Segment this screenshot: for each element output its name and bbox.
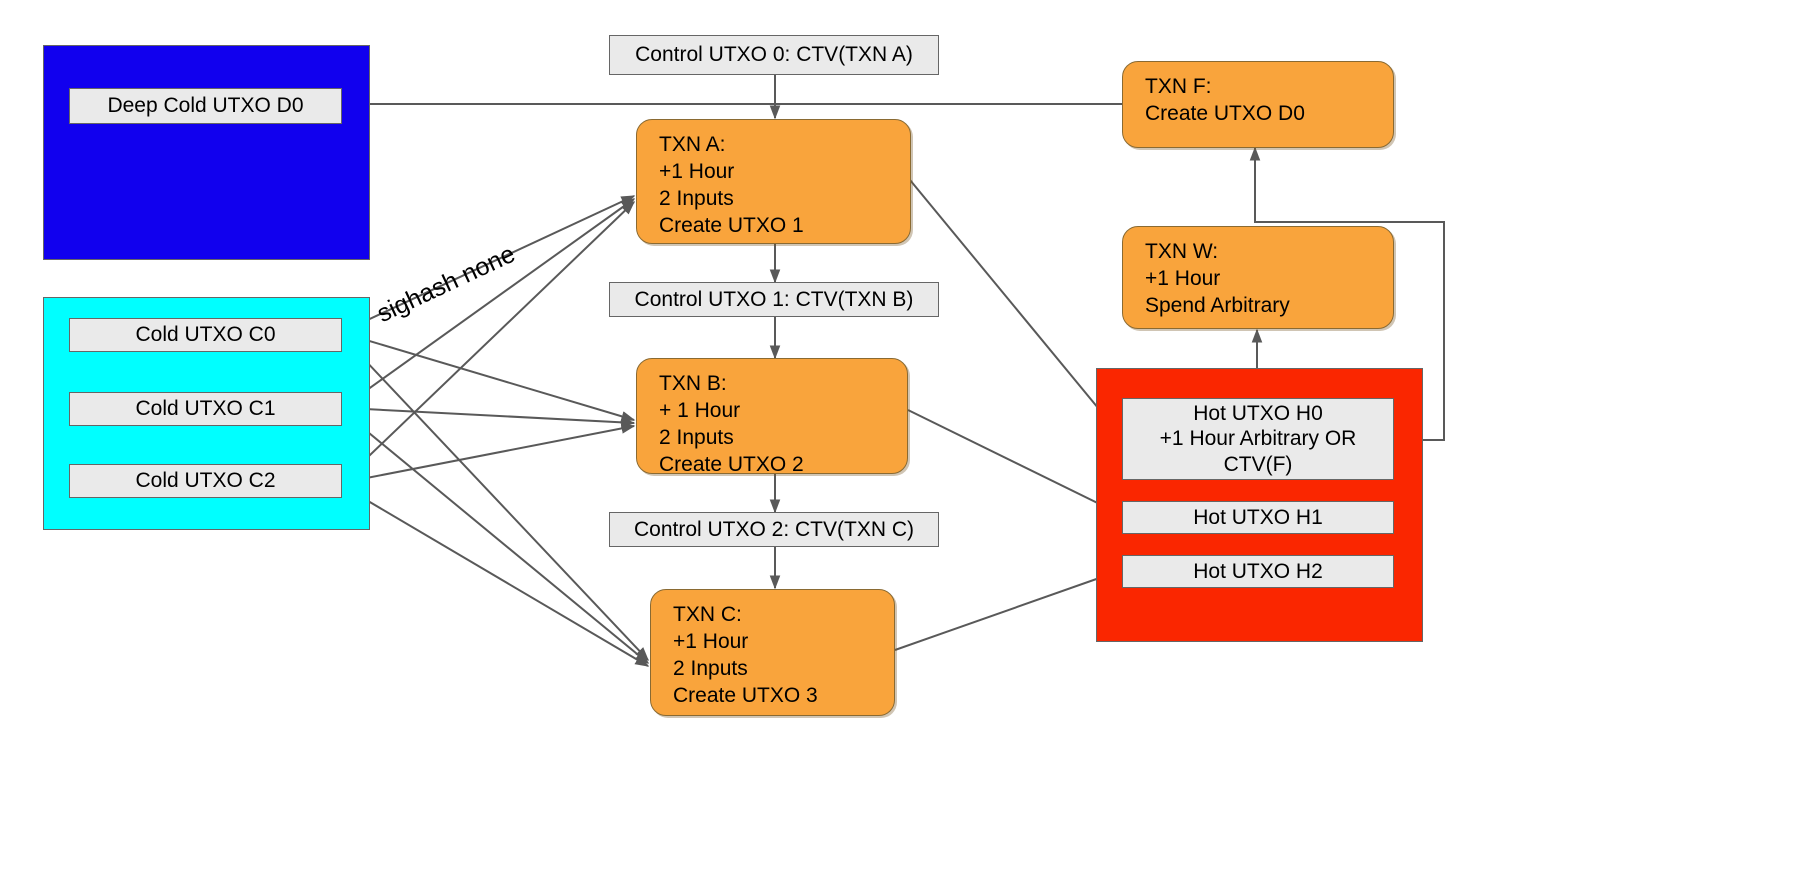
txn-c-line-4: Create UTXO 3 — [673, 683, 894, 710]
txn-b-line-2: + 1 Hour — [659, 398, 907, 425]
txn-f-line-2: Create UTXO D0 — [1145, 101, 1393, 128]
txn-a-line-2: +1 Hour — [659, 159, 910, 186]
control-utxo-0[interactable]: Control UTXO 0: CTV(TXN A) — [609, 35, 939, 75]
deep-cold-utxo-d0[interactable]: Deep Cold UTXO D0 — [69, 88, 342, 124]
txn-c-line-3: 2 Inputs — [673, 656, 894, 683]
control-utxo-1-label: Control UTXO 1: CTV(TXN B) — [635, 287, 914, 313]
wire-txna-to-hoth0 — [910, 180, 1122, 437]
deep-cold-zone — [43, 45, 370, 260]
txn-a-line-1: TXN A: — [659, 132, 910, 159]
txn-w-line-2: +1 Hour — [1145, 266, 1393, 293]
wire-txnc-to-hoth2 — [895, 570, 1122, 650]
txn-w-line-1: TXN W: — [1145, 239, 1393, 266]
txn-f-line-1: TXN F: — [1145, 74, 1393, 101]
diagram-canvas: Deep Cold UTXO D0 Cold UTXO C0 Cold UTXO… — [0, 0, 1812, 872]
txn-w-box[interactable]: TXN W: +1 Hour Spend Arbitrary — [1122, 226, 1394, 329]
txn-b-box[interactable]: TXN B: + 1 Hour 2 Inputs Create UTXO 2 — [636, 358, 908, 474]
hot-utxo-h0-line-3: CTV(F) — [1224, 452, 1293, 478]
hot-utxo-h0-line-1: Hot UTXO H0 — [1193, 401, 1323, 427]
cold-utxo-c0[interactable]: Cold UTXO C0 — [69, 318, 342, 352]
hot-utxo-h1-label: Hot UTXO H1 — [1193, 505, 1323, 531]
wire-c2-to-txna — [346, 202, 634, 478]
wire-c1-to-txnc — [346, 414, 648, 663]
control-utxo-2[interactable]: Control UTXO 2: CTV(TXN C) — [609, 512, 939, 547]
wire-c2-to-txnc — [346, 488, 648, 666]
txn-b-line-3: 2 Inputs — [659, 425, 907, 452]
wire-c0-to-txnc — [346, 340, 648, 660]
cold-utxo-c0-label: Cold UTXO C0 — [135, 322, 275, 348]
txn-a-line-4: Create UTXO 1 — [659, 213, 910, 240]
hot-utxo-h2-label: Hot UTXO H2 — [1193, 559, 1323, 585]
wire-c0-to-txnb — [346, 334, 634, 420]
deep-cold-utxo-d0-label: Deep Cold UTXO D0 — [107, 93, 303, 119]
control-utxo-1[interactable]: Control UTXO 1: CTV(TXN B) — [609, 282, 939, 317]
txn-w-line-3: Spend Arbitrary — [1145, 293, 1393, 320]
txn-f-box[interactable]: TXN F: Create UTXO D0 — [1122, 61, 1394, 148]
txn-c-line-1: TXN C: — [673, 602, 894, 629]
wire-c2-to-txnb — [346, 426, 634, 482]
hot-utxo-h0-line-2: +1 Hour Arbitrary OR — [1160, 426, 1357, 452]
hot-utxo-h0[interactable]: Hot UTXO H0 +1 Hour Arbitrary OR CTV(F) — [1122, 398, 1394, 480]
txn-a-line-3: 2 Inputs — [659, 186, 910, 213]
txn-b-line-1: TXN B: — [659, 371, 907, 398]
txn-a-box[interactable]: TXN A: +1 Hour 2 Inputs Create UTXO 1 — [636, 119, 911, 244]
control-utxo-0-label: Control UTXO 0: CTV(TXN A) — [635, 42, 913, 68]
cold-utxo-c1[interactable]: Cold UTXO C1 — [69, 392, 342, 426]
cold-utxo-c2-label: Cold UTXO C2 — [135, 468, 275, 494]
cold-utxo-c1-label: Cold UTXO C1 — [135, 396, 275, 422]
control-utxo-2-label: Control UTXO 2: CTV(TXN C) — [634, 517, 914, 543]
txn-b-line-4: Create UTXO 2 — [659, 452, 907, 479]
wire-txnb-to-hoth1 — [908, 410, 1122, 515]
txn-c-box[interactable]: TXN C: +1 Hour 2 Inputs Create UTXO 3 — [650, 589, 895, 716]
cold-utxo-c2[interactable]: Cold UTXO C2 — [69, 464, 342, 498]
hot-utxo-h2[interactable]: Hot UTXO H2 — [1122, 555, 1394, 588]
sighash-none-label: sighash none — [373, 240, 520, 329]
wire-c1-to-txnb — [346, 408, 634, 423]
hot-utxo-h1[interactable]: Hot UTXO H1 — [1122, 501, 1394, 534]
txn-c-line-2: +1 Hour — [673, 629, 894, 656]
